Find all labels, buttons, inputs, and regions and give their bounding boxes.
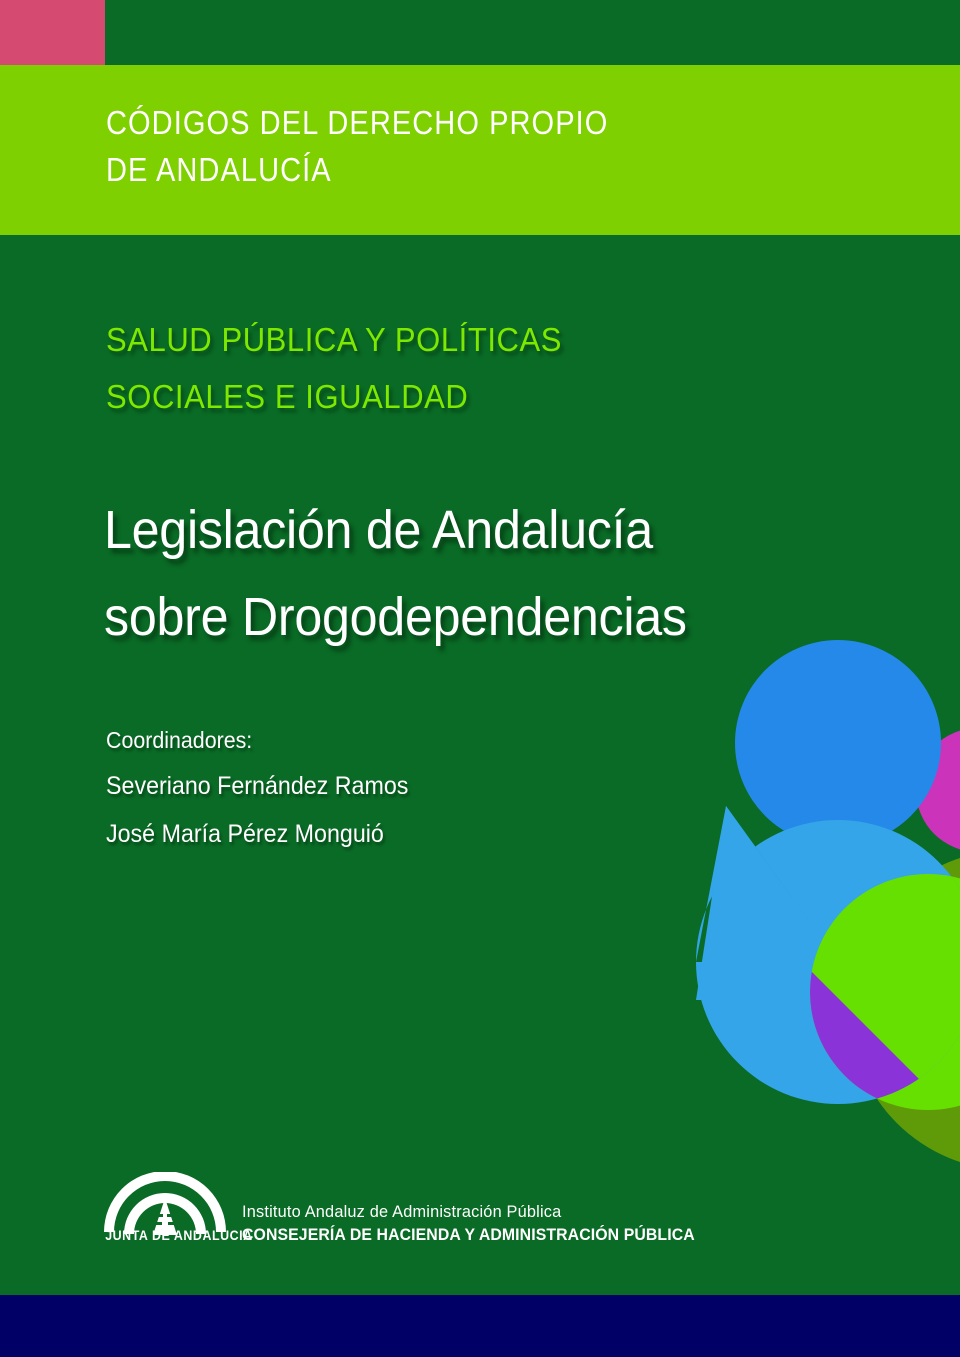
footer-band-navy <box>0 1295 960 1357</box>
credits-name-2: José María Pérez Monguió <box>106 810 627 858</box>
logo-pine-notch-left-2 <box>158 1214 163 1217</box>
credits-name-1: Severiano Fernández Ramos <box>106 762 627 810</box>
junta-de-andalucia-logo: JUNTA DE ANDALUCIA <box>100 1172 230 1252</box>
series-subtitle: SALUD PÚBLICA Y POLÍTICAS SOCIALES E IGU… <box>106 312 764 426</box>
deco-circle-green-bright <box>810 874 960 1110</box>
credits-block: Coordinadores: Severiano Fernández Ramos… <box>106 718 627 858</box>
deco-overlap-purple <box>600 700 960 1357</box>
collection-kicker-line-2: DE ANDALUCÍA <box>106 147 757 194</box>
publisher-institute: Instituto Andaluz de Administración Públ… <box>242 1201 695 1224</box>
collection-kicker: CÓDIGOS DEL DERECHO PROPIO DE ANDALUCÍA <box>106 100 757 194</box>
deco-teardrop-light-blue <box>696 806 960 1104</box>
publisher-footer: JUNTA DE ANDALUCIA Instituto Andaluz de … <box>100 1172 714 1252</box>
logo-pine-notch-right-2 <box>167 1214 172 1217</box>
logo-pine-notch-right <box>168 1222 174 1225</box>
credits-role-label: Coordinadores: <box>106 718 627 762</box>
logo-wordmark: JUNTA DE ANDALUCIA <box>105 1228 225 1243</box>
accent-band-pink <box>0 0 105 65</box>
series-subtitle-line-1: SALUD PÚBLICA Y POLÍTICAS <box>106 312 764 369</box>
publisher-text-block: Instituto Andaluz de Administración Públ… <box>242 1201 714 1246</box>
deco-circle-olive <box>850 850 960 1170</box>
collection-kicker-line-1: CÓDIGOS DEL DERECHO PROPIO <box>106 100 757 147</box>
book-cover: CÓDIGOS DEL DERECHO PROPIO DE ANDALUCÍA <box>0 0 960 1357</box>
page-title-line-2: sobre Drogodependencias <box>104 574 811 661</box>
page-title: Legislación de Andalucía sobre Drogodepe… <box>104 487 811 662</box>
page-title-line-1: Legislación de Andalucía <box>104 487 811 574</box>
deco-circle-magenta <box>916 728 960 852</box>
deco-circle-blue-dark <box>735 640 941 846</box>
logo-pine-notch-left <box>156 1222 162 1225</box>
series-subtitle-line-2: SOCIALES E IGUALDAD <box>106 369 764 426</box>
deco-green-over-blue <box>696 820 960 1104</box>
publisher-department: CONSEJERÍA DE HACIENDA Y ADMINISTRACIÓN … <box>242 1224 695 1246</box>
deco-teardrop-cusp <box>696 806 866 1000</box>
